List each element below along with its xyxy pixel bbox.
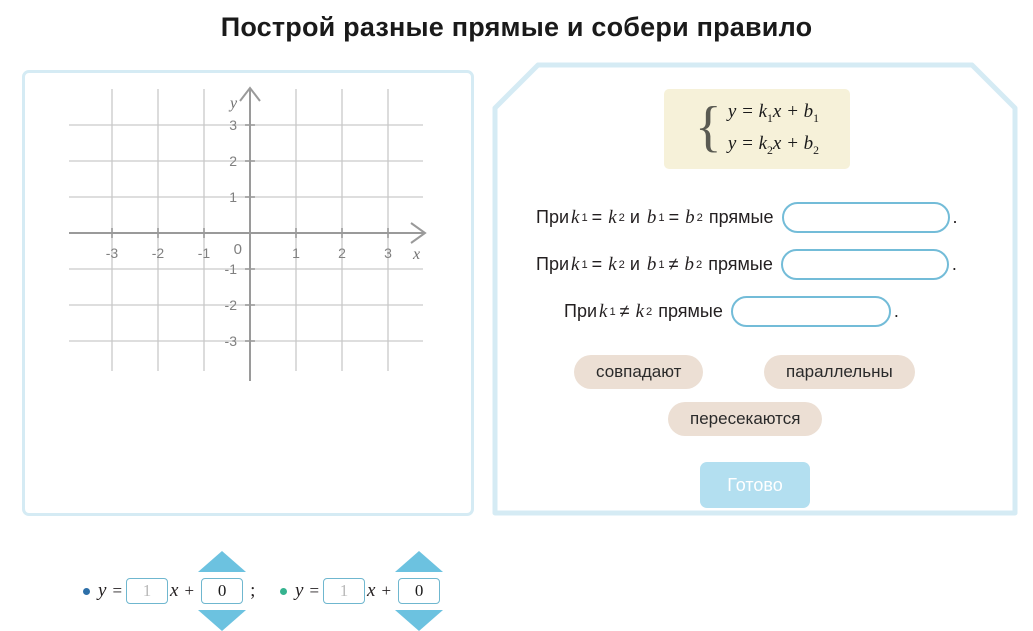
decrement-arrow-icon-1[interactable] <box>198 610 246 631</box>
y-tick-label: -1 <box>225 261 238 277</box>
equation-2-k-input[interactable]: 1 <box>323 578 365 604</box>
equation-system-box: { y = k1x + b1 y = k2x + b2 <box>664 89 850 169</box>
page-title: Построй разные прямые и собери правило <box>0 12 1033 43</box>
equation-1-equals: = <box>108 581 126 601</box>
cond3-rel1: ≠ <box>616 301 634 322</box>
cond1-k2: k <box>606 207 618 229</box>
sys1-k: k <box>759 101 767 122</box>
equation-row-2: y = 1 x + 0 <box>280 551 443 631</box>
cond2-k2: k <box>606 254 618 276</box>
x-tick-label: 2 <box>338 245 346 261</box>
equation-system: y = k1x + b1 y = k2x + b2 <box>728 101 819 158</box>
cond2-rel1: = <box>588 254 607 275</box>
equation-2-equals: = <box>305 581 323 601</box>
graph-panel: -3 -2 -1 1 2 3 3 2 1 -1 -2 -3 0 x y <box>22 70 474 516</box>
equation-2-x: x <box>365 580 377 602</box>
equation-1-b-stepper: 0 <box>198 551 246 631</box>
decrement-arrow-icon-2[interactable] <box>395 610 443 631</box>
rule-panel-content: { y = k1x + b1 y = k2x + b2 <box>492 62 1018 516</box>
x-tick-label: -3 <box>106 245 119 261</box>
done-button[interactable]: Готово <box>700 462 810 508</box>
cond3-lines-word: прямые <box>652 301 723 322</box>
origin-label: 0 <box>234 241 242 258</box>
x-tick-label: 1 <box>292 245 300 261</box>
condition-line-1: При k1 = k2 и b1 = b2 прямые . <box>536 202 958 233</box>
sys2-b: b <box>804 133 814 154</box>
cond2-b2: b <box>683 254 697 276</box>
cond1-lines-word: прямые <box>703 207 774 228</box>
sys2-y: y <box>728 133 736 154</box>
equation-1-b-input[interactable]: 0 <box>201 578 243 604</box>
cond3-pri: При <box>564 301 597 322</box>
sys1-y: y <box>728 101 736 122</box>
graph-svg: -3 -2 -1 1 2 3 3 2 1 -1 -2 -3 0 x y <box>25 81 471 401</box>
increment-arrow-icon-2[interactable] <box>395 551 443 572</box>
cond2-pri: При <box>536 254 569 275</box>
system-equation-2: y = k2x + b2 <box>728 133 819 158</box>
answer-dropzone-2[interactable] <box>781 249 949 280</box>
cond1-k1: k <box>569 207 581 229</box>
equation-2-y: y <box>293 580 305 602</box>
x-tick-label: -1 <box>198 245 211 261</box>
equation-1-x: x <box>168 580 180 602</box>
equation-2-b-input[interactable]: 0 <box>398 578 440 604</box>
y-tick-label: -2 <box>225 297 238 313</box>
equation-row-1: y = 1 x + 0 ; <box>83 551 255 631</box>
line-color-dot-2 <box>280 588 287 595</box>
condition-line-3: При k1 ≠ k2 прямые . <box>564 296 899 327</box>
equation-1-y: y <box>96 580 108 602</box>
cond1-pri: При <box>536 207 569 228</box>
sys1-b-sub: 1 <box>813 112 819 125</box>
rule-panel: { y = k1x + b1 y = k2x + b2 <box>492 62 1018 516</box>
system-equation-1: y = k1x + b1 <box>728 101 819 126</box>
cond1-b1: b <box>645 207 659 229</box>
answer-chip-parallel[interactable]: параллельны <box>764 355 915 389</box>
answer-chip-coincide[interactable]: совпадают <box>574 355 703 389</box>
x-tick-label: -2 <box>152 245 165 261</box>
cond1-and: и <box>625 207 645 228</box>
curly-brace-icon: { <box>695 99 722 155</box>
sys1-x: x <box>773 101 781 122</box>
equation-1-k-input[interactable]: 1 <box>126 578 168 604</box>
x-tick-labels: -3 -2 -1 1 2 3 <box>106 245 392 261</box>
sys2-plus: + <box>786 133 799 154</box>
answer-dropzone-3[interactable] <box>731 296 891 327</box>
coordinate-graph[interactable]: -3 -2 -1 1 2 3 3 2 1 -1 -2 -3 0 x y <box>25 81 471 401</box>
sys2-b-sub: 2 <box>813 143 819 156</box>
sys2-eq: = <box>741 133 754 154</box>
axis-lines <box>69 89 423 381</box>
x-axis-label: x <box>412 246 420 263</box>
equation-1-plus: + <box>180 581 198 601</box>
cond3-k2: k <box>634 301 646 323</box>
equation-separator: ; <box>246 580 255 602</box>
condition-line-2: При k1 = k2 и b1 ≠ b2 прямые . <box>536 249 957 280</box>
sys2-x: x <box>773 133 781 154</box>
cond2-b1: b <box>645 254 659 276</box>
sys1-eq: = <box>741 101 754 122</box>
equation-2-b-stepper: 0 <box>395 551 443 631</box>
line-color-dot-1 <box>83 588 90 595</box>
cond2-k1: k <box>569 254 581 276</box>
y-tick-label: 2 <box>229 153 237 169</box>
cond2-lines-word: прямые <box>702 254 773 275</box>
cond1-rel2: = <box>665 207 684 228</box>
sys1-b: b <box>804 101 814 122</box>
increment-arrow-icon-1[interactable] <box>198 551 246 572</box>
equation-controls: y = 1 x + 0 ; y = 1 x + 0 <box>65 513 485 613</box>
cond2-rel2: ≠ <box>665 254 683 275</box>
cond1-rel1: = <box>588 207 607 228</box>
x-tick-label: 3 <box>384 245 392 261</box>
answer-chip-intersect[interactable]: пересекаются <box>668 402 822 436</box>
y-tick-label: -3 <box>225 333 238 349</box>
y-tick-label: 1 <box>229 189 237 205</box>
cond3-k1: k <box>597 301 609 323</box>
answer-dropzone-1[interactable] <box>782 202 950 233</box>
cond3-period: . <box>894 301 899 322</box>
sys2-k: k <box>759 133 767 154</box>
cond2-period: . <box>952 254 957 275</box>
y-tick-label: 3 <box>229 117 237 133</box>
equation-2-plus: + <box>377 581 395 601</box>
y-axis-label: y <box>228 95 238 112</box>
cond2-and: и <box>625 254 645 275</box>
sys1-plus: + <box>786 101 799 122</box>
cond1-period: . <box>953 207 958 228</box>
cond1-b2: b <box>683 207 697 229</box>
